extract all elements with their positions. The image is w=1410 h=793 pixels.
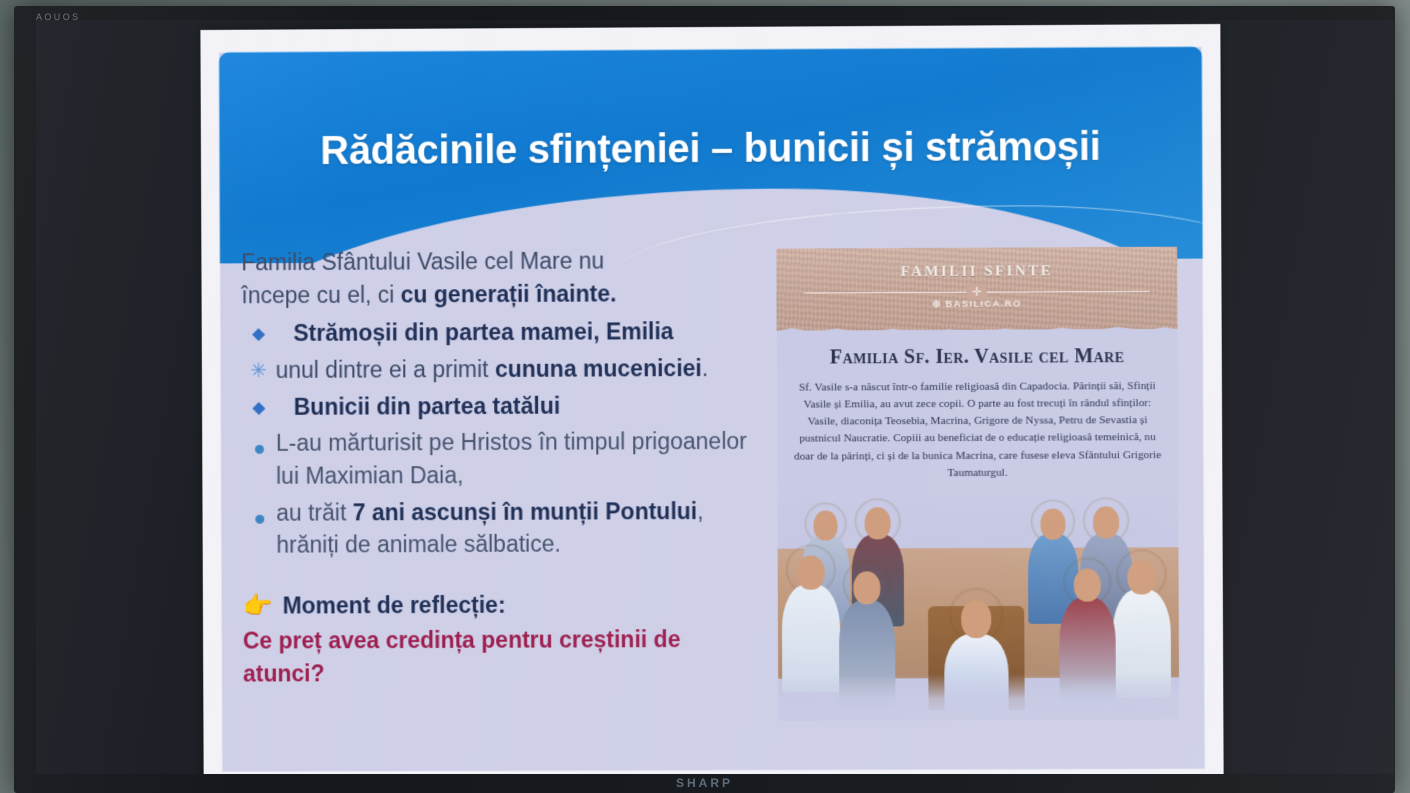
bullet-label: L-au mărturisit pe Hristos în timpul pri… [276, 425, 762, 492]
slide-text-column: Familia Sfântului Vasile cel Mare nu înc… [241, 244, 762, 690]
lead-paragraph: Familia Sfântului Vasile cel Mare nu înc… [241, 244, 760, 312]
bullet-item: ✳ unul dintre ei a primit cununa mucenic… [242, 352, 761, 387]
bullet-text-bold: 7 ani ascunși în munții Pontului [353, 498, 698, 525]
bullet-label: au trăit 7 ani ascunși în munții Pontulu… [276, 494, 762, 561]
saint-head [853, 571, 880, 604]
infographic-divider: ✛ [805, 291, 1150, 294]
diamond-bullet-icon: ◆ [242, 317, 276, 346]
tv-screen: Rădăcinile sfințeniei – bunicii și străm… [36, 20, 1394, 774]
cross-ornament-icon: ✛ [967, 284, 987, 300]
saint-head [797, 556, 825, 590]
icon-bottom-fade [778, 673, 1179, 720]
orthodox-icon-artwork [777, 491, 1179, 721]
saint-head [961, 600, 991, 638]
bullet-label: unul dintre ei a primit cununa mucenicie… [276, 352, 761, 387]
slide-canvas: Rădăcinile sfințeniei – bunicii și străm… [218, 46, 1205, 772]
lead-text-part1: Familia Sfântului Vasile cel Mare nu [241, 248, 604, 276]
reflection-heading-row: 👉 Moment de reflecție: [243, 590, 762, 621]
television-set: AQUOS Rădăcinile sfințeniei – bunicii și… [14, 6, 1395, 793]
bullet-item: ◆ Strămoșii din partea mamei, Emilia [242, 315, 761, 350]
bullet-item: L-au mărturisit pe Hristos în timpul pri… [242, 425, 761, 492]
infographic-card: FAMILII SFINTE ✛ ⊕ BASILICA.RO Familia S… [776, 247, 1179, 721]
bullet-text-tail: . [702, 355, 709, 381]
asterisk-bullet-icon: ✳ [242, 354, 276, 385]
saint-figure [780, 544, 843, 684]
presentation-slide[interactable]: Rădăcinile sfințeniei – bunicii și străm… [200, 24, 1223, 774]
sharp-brand-label: SHARP [676, 776, 733, 790]
lead-text-bold: cu generații înainte. [401, 280, 617, 307]
infographic-subtitle: Familia Sf. Ier. Vasile cel Mare [785, 345, 1170, 370]
lead-text-part2: începe cu el, ci [241, 281, 400, 308]
dot-bullet-icon [242, 427, 276, 462]
reflection-question: Ce preț avea credința pentru creștinii d… [243, 623, 762, 690]
saint-head [865, 507, 891, 539]
pointing-hand-icon: 👉 [243, 592, 273, 621]
bullet-label: Bunicii din partea tatălui [276, 388, 761, 423]
saint-head [1127, 560, 1155, 594]
dot-bullet-icon [242, 496, 276, 531]
reflection-block: 👉 Moment de reflecție: Ce preț avea cred… [243, 590, 763, 690]
saint-head [813, 510, 837, 540]
infographic-paper-header: FAMILII SFINTE ✛ ⊕ BASILICA.RO [776, 247, 1177, 331]
saint-head [1074, 568, 1101, 601]
bullet-item: ◆ Bunicii din partea tatălui [242, 388, 761, 423]
saint-head [1093, 506, 1119, 538]
bullet-item: au trăit 7 ani ascunși în munții Pontulu… [242, 494, 761, 561]
infographic-image: FAMILII SFINTE ✛ ⊕ BASILICA.RO Familia S… [775, 46, 1179, 749]
reflection-heading: Moment de reflecție: [282, 592, 505, 620]
saint-figure [1110, 549, 1173, 689]
bullet-text-plain: au trăit [276, 499, 353, 525]
bullet-text-plain: L-au mărturisit pe Hristos în timpul pri… [276, 428, 747, 489]
diamond-bullet-icon: ◆ [242, 391, 276, 420]
infographic-body-text: Sf. Vasile s-a născut într-o familie rel… [793, 378, 1162, 483]
bullet-label: Strămoșii din partea mamei, Emilia [275, 315, 760, 350]
bullet-text-plain: unul dintre ei a primit [276, 356, 495, 383]
infographic-title: FAMILII SFINTE [776, 263, 1177, 282]
room-background: AQUOS Rădăcinile sfințeniei – bunicii și… [0, 0, 1410, 793]
saint-head [1040, 509, 1065, 540]
bullet-text-bold: cununa muceniciei [495, 355, 702, 382]
